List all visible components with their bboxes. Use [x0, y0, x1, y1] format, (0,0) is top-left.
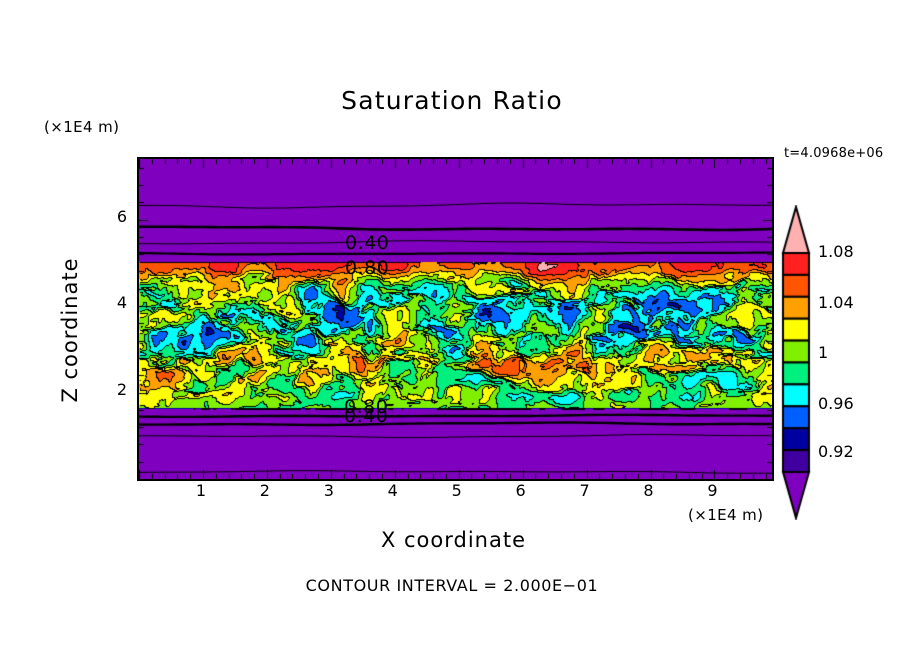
x-tick-label: 7	[570, 481, 600, 500]
x-tick-label: 3	[314, 481, 344, 500]
x-tick-label: 6	[506, 481, 536, 500]
y-axis-title: Z coordinate	[58, 230, 82, 430]
timestamp-label: t=4.0968e+06	[784, 146, 883, 161]
colorbar-gradient	[778, 205, 814, 520]
x-tick-label: 4	[378, 481, 408, 500]
y-tick-label: 4	[105, 293, 127, 312]
contour-interval-caption: CONTOUR INTERVAL = 2.000E−01	[0, 576, 904, 595]
contour-level-label: 0.40	[344, 405, 388, 427]
x-tick-label: 8	[634, 481, 664, 500]
colorbar-tick-label: 0.96	[818, 394, 854, 413]
colorbar-tick-label: 1.08	[818, 242, 854, 261]
x-axis-title: X coordinate	[137, 528, 770, 552]
x-tick-label: 1	[186, 481, 216, 500]
page-title: Saturation Ratio	[0, 86, 904, 115]
colorbar-tick-label: 1.04	[818, 293, 854, 312]
colorbar	[778, 205, 814, 520]
figure-canvas: Saturation Ratio (×1E4 m) t=4.0968e+06 0…	[0, 0, 904, 654]
contour-level-label: 0.80	[345, 257, 389, 279]
plot-area	[137, 157, 774, 481]
x-tick-label: 5	[442, 481, 472, 500]
colorbar-tick-label: 1	[818, 343, 828, 362]
x-tick-label: 2	[250, 481, 280, 500]
y-tick-label: 2	[105, 380, 127, 399]
y-axis-unit-label: (×1E4 m)	[44, 118, 119, 136]
x-tick-label: 9	[697, 481, 727, 500]
y-tick-label: 6	[105, 207, 127, 226]
contour-level-label: 0.40	[345, 232, 389, 254]
contour-field	[139, 159, 772, 479]
x-axis-unit-label: (×1E4 m)	[688, 506, 763, 524]
colorbar-tick-label: 0.92	[818, 442, 854, 461]
